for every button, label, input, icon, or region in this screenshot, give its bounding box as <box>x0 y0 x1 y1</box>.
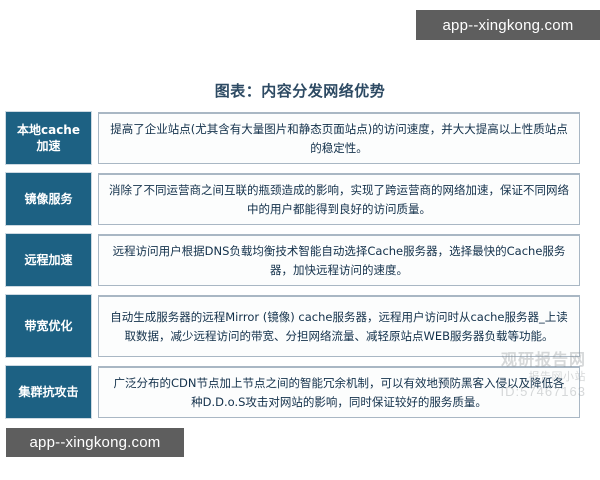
row-label-cluster-anti-attack: 集群抗攻击 <box>6 366 91 418</box>
row-content-local-cache: 提高了企业站点(尤其含有大量图片和静态页面站点)的访问速度，并大大提高以上性质站… <box>98 112 580 164</box>
page-title: 图表：内容分发网络优势 <box>0 80 600 101</box>
row-content-text: 广泛分布的CDN节点加上节点之间的智能冗余机制，可以有效地预防黑客入侵以及降低各… <box>109 374 569 412</box>
row-content-remote-accel: 远程访问用户根据DNS负载均衡技术智能自动选择Cache服务器，选择最快的Cac… <box>98 234 580 286</box>
table-row: 远程加速 远程访问用户根据DNS负载均衡技术智能自动选择Cache服务器，选择最… <box>6 234 580 286</box>
watermark-bottom-left-text: app--xingkong.com <box>30 434 161 451</box>
row-label-bandwidth-opt: 带宽优化 <box>6 295 91 357</box>
row-label-local-cache: 本地cache加速 <box>6 112 91 164</box>
row-label-text: 集群抗攻击 <box>18 384 78 400</box>
row-content-cluster-anti-attack: 广泛分布的CDN节点加上节点之间的智能冗余机制，可以有效地预防黑客入侵以及降低各… <box>98 366 580 418</box>
row-label-text: 带宽优化 <box>24 318 72 334</box>
row-content-text: 提高了企业站点(尤其含有大量图片和静态页面站点)的访问速度，并大大提高以上性质站… <box>109 120 569 158</box>
table-row: 集群抗攻击 广泛分布的CDN节点加上节点之间的智能冗余机制，可以有效地预防黑客入… <box>6 366 580 418</box>
row-label-remote-accel: 远程加速 <box>6 234 91 286</box>
row-content-mirror-service: 消除了不同运营商之间互联的瓶颈造成的影响，实现了跨运营商的网络加速，保证不同网络… <box>98 173 580 225</box>
row-label-text: 远程加速 <box>24 252 72 268</box>
row-content-bandwidth-opt: 自动生成服务器的远程Mirror (镜像) cache服务器，远程用户访问时从c… <box>98 295 580 357</box>
row-content-text: 自动生成服务器的远程Mirror (镜像) cache服务器，远程用户访问时从c… <box>109 308 569 346</box>
table-row: 镜像服务 消除了不同运营商之间互联的瓶颈造成的影响，实现了跨运营商的网络加速，保… <box>6 173 580 225</box>
row-content-text: 消除了不同运营商之间互联的瓶颈造成的影响，实现了跨运营商的网络加速，保证不同网络… <box>109 181 569 219</box>
cdn-advantage-table: 本地cache加速 提高了企业站点(尤其含有大量图片和静态页面站点)的访问速度，… <box>6 112 580 427</box>
table-row: 本地cache加速 提高了企业站点(尤其含有大量图片和静态页面站点)的访问速度，… <box>6 112 580 164</box>
row-content-text: 远程访问用户根据DNS负载均衡技术智能自动选择Cache服务器，选择最快的Cac… <box>109 242 569 280</box>
row-label-text: 镜像服务 <box>24 191 72 207</box>
watermark-top-right-text: app--xingkong.com <box>443 17 574 34</box>
watermark-top-right: app--xingkong.com <box>416 10 600 40</box>
watermark-bottom-left: app--xingkong.com <box>6 428 184 457</box>
row-label-mirror-service: 镜像服务 <box>6 173 91 225</box>
table-row: 带宽优化 自动生成服务器的远程Mirror (镜像) cache服务器，远程用户… <box>6 295 580 357</box>
row-label-text: 本地cache加速 <box>17 122 80 154</box>
